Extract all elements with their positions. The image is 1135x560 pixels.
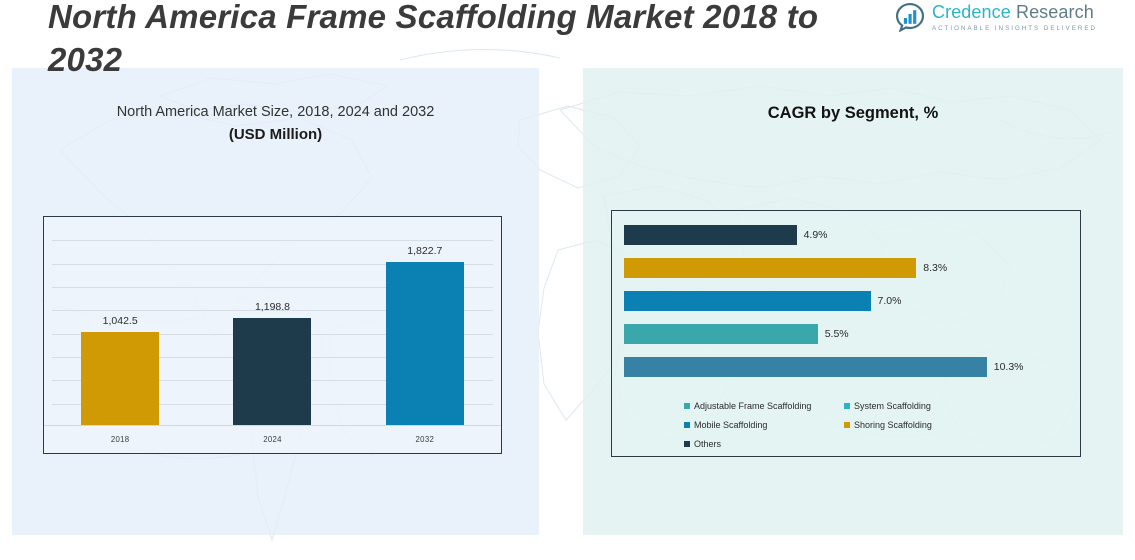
cagr-bar-rows: 4.9%8.3%7.0%5.5%10.3%: [624, 225, 1070, 377]
bar-rect: [624, 291, 871, 311]
bar-value-label: 5.5%: [825, 328, 849, 340]
bar-value-label: 8.3%: [923, 262, 947, 274]
legend-swatch-icon: [844, 422, 850, 428]
market-size-chart-title: North America Market Size, 2018, 2024 an…: [12, 104, 539, 120]
legend-label: Mobile Scaffolding: [694, 420, 767, 430]
bar-rect: [81, 332, 159, 425]
legend-label: System Scaffolding: [854, 401, 931, 411]
legend-item[interactable]: Others: [684, 434, 844, 453]
x-axis-tick-labels: 201820242032: [44, 425, 501, 453]
bar-rect: [386, 262, 464, 425]
brand-name-part1: Credence: [932, 2, 1011, 22]
bar-column: 1,822.7: [349, 217, 500, 425]
cagr-bar-row: 8.3%: [624, 258, 1070, 278]
bar-rect: [233, 318, 311, 425]
x-axis-tick: 2032: [349, 435, 500, 444]
market-size-bar-chart: 1,042.51,198.81,822.7 201820242032: [43, 216, 502, 454]
bar-value-label: 1,822.7: [407, 245, 442, 257]
x-axis-tick: 2024: [197, 435, 348, 444]
cagr-legend: Adjustable Frame ScaffoldingSystem Scaff…: [684, 396, 1014, 453]
legend-swatch-icon: [684, 403, 690, 409]
bar-rect: [624, 324, 818, 344]
legend-label: Others: [694, 439, 721, 449]
infographic-page: North America Frame Scaffolding Market 2…: [0, 0, 1135, 560]
market-size-panel: North America Market Size, 2018, 2024 an…: [12, 68, 539, 535]
cagr-chart-title: CAGR by Segment, %: [583, 104, 1123, 123]
brand-name-part2: Research: [1016, 2, 1094, 22]
bar-rect: [624, 357, 987, 377]
legend-label: Adjustable Frame Scaffolding: [694, 401, 811, 411]
bar-column: 1,198.8: [197, 217, 348, 425]
bar-value-label: 7.0%: [878, 295, 902, 307]
legend-swatch-icon: [684, 422, 690, 428]
cagr-bar-row: 10.3%: [624, 357, 1070, 377]
bar-value-label: 4.9%: [804, 229, 828, 241]
bar-rect: [624, 258, 916, 278]
bar-value-label: 10.3%: [994, 361, 1024, 373]
bar-plot-area: 1,042.51,198.81,822.7: [44, 217, 501, 425]
legend-item[interactable]: Mobile Scaffolding: [684, 415, 844, 434]
bar-value-label: 1,198.8: [255, 301, 290, 313]
legend-item[interactable]: Adjustable Frame Scaffolding: [684, 396, 844, 415]
legend-item[interactable]: System Scaffolding: [844, 396, 994, 415]
bar-column: 1,042.5: [45, 217, 196, 425]
legend-item[interactable]: Shoring Scaffolding: [844, 415, 994, 434]
cagr-panel: CAGR by Segment, % 4.9%8.3%7.0%5.5%10.3%…: [583, 68, 1123, 535]
legend-label: Shoring Scaffolding: [854, 420, 932, 430]
page-title: North America Frame Scaffolding Market 2…: [48, 0, 878, 82]
brand-tagline: Actionable Insights Delivered: [932, 25, 1097, 32]
credence-bar-chart-bubble-icon: [895, 2, 925, 32]
cagr-bar-row: 5.5%: [624, 324, 1070, 344]
bar-rect: [624, 225, 797, 245]
market-size-chart-subtitle: (USD Million): [12, 126, 539, 143]
company-logo: Credence Research Actionable Insights De…: [895, 2, 1097, 32]
brand-name: Credence Research: [932, 2, 1097, 23]
legend-swatch-icon: [844, 403, 850, 409]
cagr-bar-row: 4.9%: [624, 225, 1070, 245]
cagr-bar-row: 7.0%: [624, 291, 1070, 311]
cagr-bar-chart: 4.9%8.3%7.0%5.5%10.3% Adjustable Frame S…: [611, 210, 1081, 457]
legend-swatch-icon: [684, 441, 690, 447]
bar-value-label: 1,042.5: [103, 315, 138, 327]
x-axis-tick: 2018: [45, 435, 196, 444]
